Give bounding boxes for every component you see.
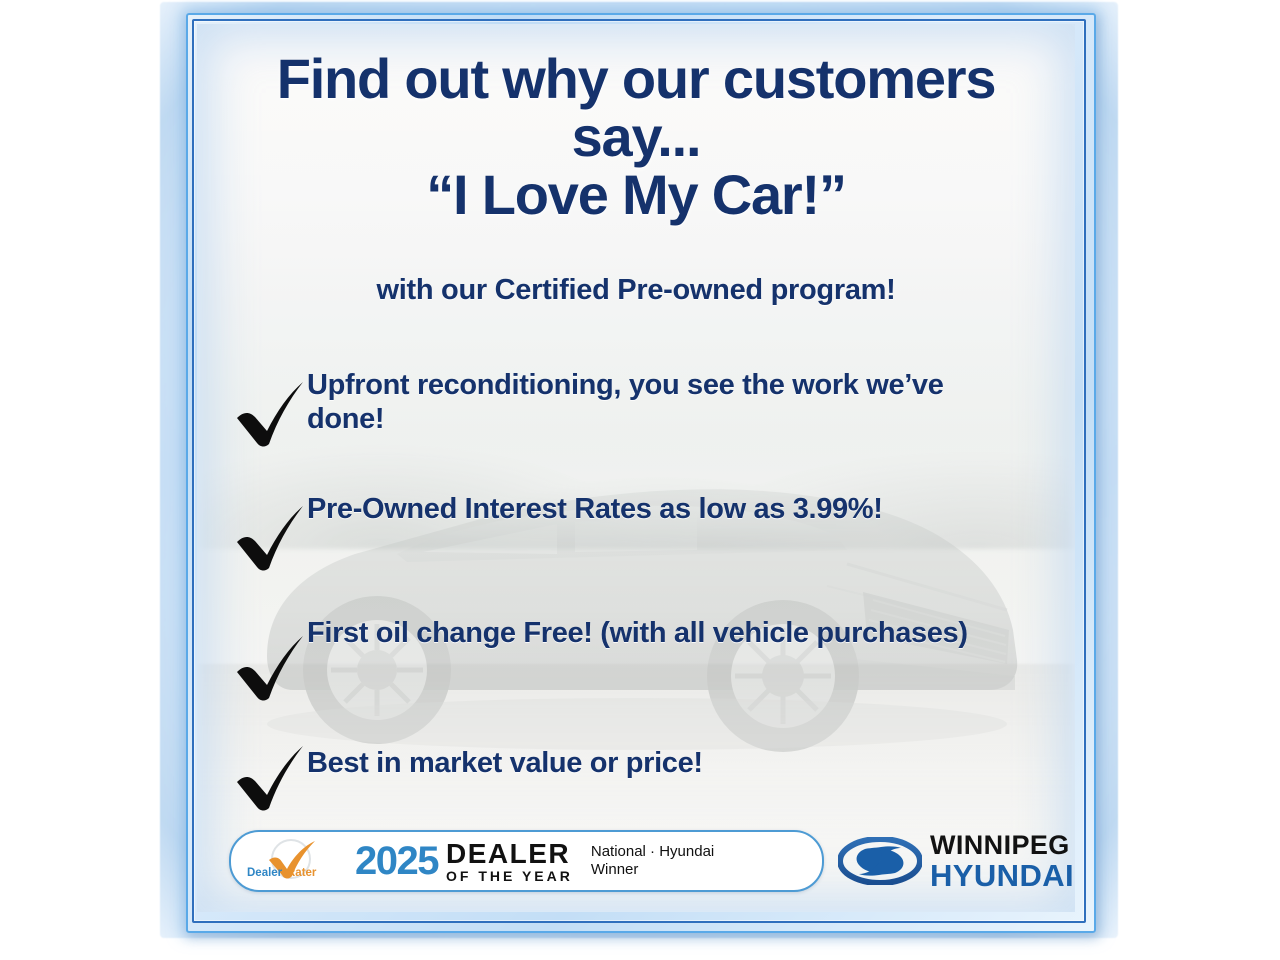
checkmark-icon	[233, 378, 307, 448]
dealership-name-line-1: WINNIPEG	[930, 832, 1074, 859]
subheadline: with our Certified Pre-owned program!	[217, 274, 1055, 307]
hyundai-h-logo-icon	[838, 837, 922, 885]
headline-line-1: Find out why our customers	[217, 50, 1055, 108]
checkmark-icon	[233, 502, 307, 572]
checkmark-icon	[233, 632, 307, 702]
list-item-label: Best in market value or price!	[307, 742, 703, 780]
list-item-label: Pre-Owned Interest Rates as low as 3.99%…	[307, 488, 883, 526]
award-title-line-2: OF THE YEAR	[446, 869, 573, 883]
headline-line-3: “I Love My Car!”	[217, 166, 1055, 224]
award-title-line-1: DEALER	[446, 840, 573, 868]
headline-line-2: say...	[217, 108, 1055, 166]
dealerrater-award-badge: Dealer Rater 2025 DEALER OF THE YEAR Nat…	[229, 830, 824, 892]
list-item-label: First oil change Free! (with all vehicle…	[307, 612, 968, 650]
list-item: Pre-Owned Interest Rates as low as 3.99%…	[225, 488, 1045, 572]
list-item-label: Upfront reconditioning, you see the work…	[307, 364, 997, 436]
benefits-list: Upfront reconditioning, you see the work…	[225, 364, 1045, 852]
dealership-name-line-2: HYUNDAI	[930, 860, 1074, 891]
list-item: Upfront reconditioning, you see the work…	[225, 364, 1045, 448]
award-winner-line-2: Winner	[591, 861, 714, 879]
dealership-name: WINNIPEG HYUNDAI	[930, 832, 1074, 891]
dealership-logo: WINNIPEG HYUNDAI	[838, 832, 1075, 891]
svg-text:Rater: Rater	[287, 867, 317, 879]
poster-body: Find out why our customers say... “I Lov…	[197, 24, 1075, 912]
award-winner-line-1: National · Hyundai	[591, 843, 714, 861]
poster-content: Find out why our customers say... “I Lov…	[197, 24, 1075, 912]
list-item: First oil change Free! (with all vehicle…	[225, 612, 1045, 702]
svg-text:Dealer: Dealer	[247, 867, 283, 879]
poster-canvas: Find out why our customers say... “I Lov…	[0, 0, 1280, 960]
award-winner-category: National · Hyundai Winner	[591, 843, 714, 878]
poster-footer: Dealer Rater 2025 DEALER OF THE YEAR Nat…	[197, 824, 1075, 898]
dealerrater-check-icon: Dealer Rater	[243, 836, 339, 886]
award-title: DEALER OF THE YEAR	[446, 840, 573, 883]
checkmark-icon	[233, 742, 307, 812]
headline: Find out why our customers say... “I Lov…	[217, 50, 1055, 225]
list-item: Best in market value or price!	[225, 742, 1045, 812]
award-year: 2025	[355, 841, 438, 881]
